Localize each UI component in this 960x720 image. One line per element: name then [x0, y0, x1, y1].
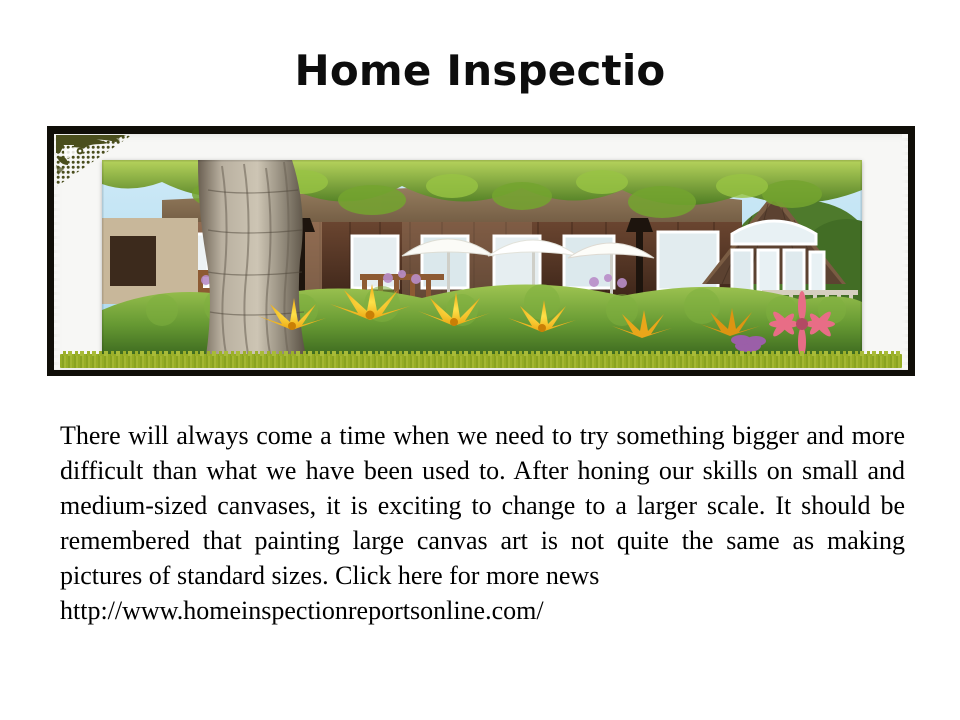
grass-strip: [60, 354, 902, 368]
photo-figure: [47, 126, 915, 376]
page-title: Home Inspectio: [0, 46, 960, 96]
body-paragraph-text: There will always come a time when we ne…: [60, 421, 905, 590]
house-photo: [102, 160, 862, 356]
photo-white-mat: [54, 134, 908, 370]
website-url-link[interactable]: http://www.homeinspectionreportsonline.c…: [60, 593, 905, 628]
body-paragraph: There will always come a time when we ne…: [60, 418, 905, 628]
